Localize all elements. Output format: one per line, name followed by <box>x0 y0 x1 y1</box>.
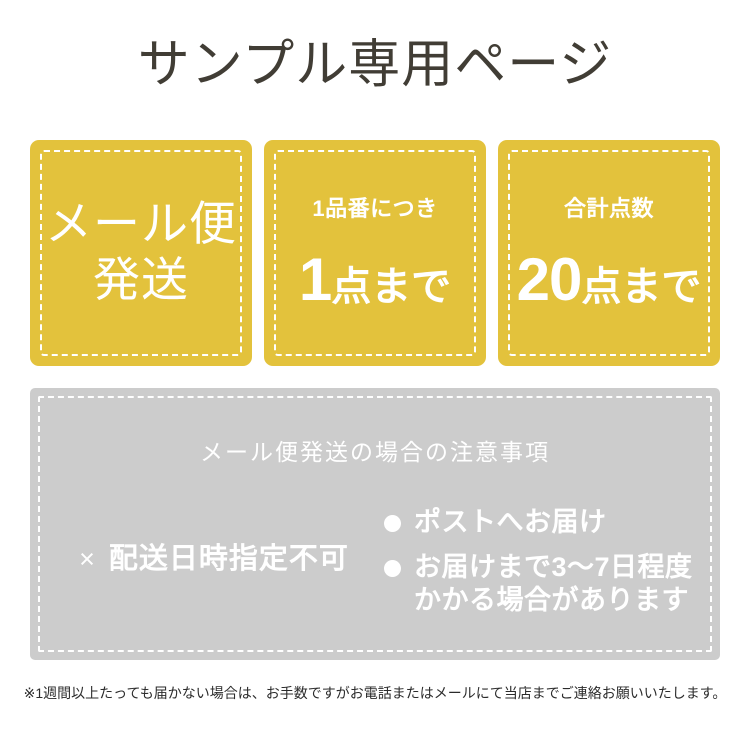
card-per-item-limit-unit: 点まで <box>331 267 451 307</box>
card-per-item-limit: 1品番につき 1 点まで <box>264 140 486 366</box>
card-total-limit: 合計点数 20 点まで <box>498 140 720 366</box>
feature-cards-row: メール便 発送 1品番につき 1 点まで 合計点数 20 点まで <box>30 140 720 366</box>
notice-body: × 配送日時指定不可 ポストへお届け お届けまで3〜7日程度 かかる場合がありま… <box>30 506 720 617</box>
bullet-dot-icon <box>384 515 401 532</box>
notice-bullet-text: お届けまで3〜7日程度 かかる場合があります <box>414 551 693 617</box>
card-per-item-limit-value: 1 点まで <box>299 250 451 310</box>
notice-panel: メール便発送の場合の注意事項 × 配送日時指定不可 ポストへお届け お届けまで3… <box>30 388 720 660</box>
card-per-item-limit-number: 1 <box>299 250 331 310</box>
card-total-limit-content: 合計点数 20 点まで <box>498 140 720 366</box>
notice-no-date-designation: × 配送日時指定不可 <box>44 506 384 576</box>
card-per-item-limit-content: 1品番につき 1 点まで <box>264 140 486 366</box>
notice-heading: メール便発送の場合の注意事項 <box>30 438 720 466</box>
card-per-item-limit-caption: 1品番につき <box>312 196 437 222</box>
card-total-limit-number: 20 <box>517 250 582 310</box>
card-total-limit-unit: 点まで <box>581 267 701 307</box>
notice-no-date-designation-label: 配送日時指定不可 <box>109 542 349 576</box>
banner-page: サンプル専用ページ メール便 発送 1品番につき 1 点まで <box>0 0 750 750</box>
footer-note: ※1週間以上たっても届かない場合は、お手数ですがお電話またはメールにて当店までご… <box>0 683 750 703</box>
page-title: サンプル専用ページ <box>0 34 750 96</box>
card-total-limit-caption: 合計点数 <box>564 196 654 222</box>
list-item: ポストへお届け <box>384 506 702 539</box>
list-item: お届けまで3〜7日程度 かかる場合があります <box>384 551 702 617</box>
card-mail-delivery-content: メール便 発送 <box>30 140 252 366</box>
cross-icon: × <box>79 542 96 576</box>
notice-bullet-list: ポストへお届け お届けまで3〜7日程度 かかる場合があります <box>384 506 702 617</box>
card-mail-delivery-line1: メール便 <box>45 197 237 253</box>
card-mail-delivery-line2: 発送 <box>93 253 189 309</box>
bullet-dot-icon <box>384 560 401 577</box>
card-total-limit-value: 20 点まで <box>517 250 702 310</box>
card-mail-delivery: メール便 発送 <box>30 140 252 366</box>
notice-bullet-text: ポストへお届け <box>414 506 607 539</box>
